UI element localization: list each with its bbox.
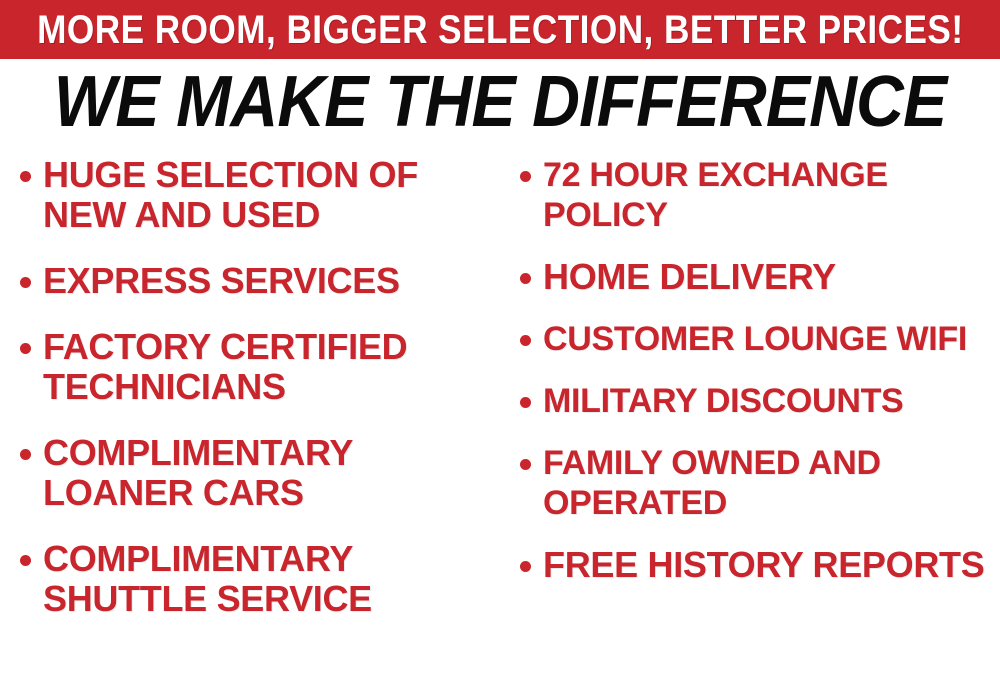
list-item-label: FACTORY CERTIFIED TECHNICIANS [43,327,496,407]
list-item: EXPRESS SERVICES [20,261,496,301]
bullet-dot-icon [520,397,531,408]
promo-banner: MORE ROOM, BIGGER SELECTION, BETTER PRIC… [0,0,1000,59]
list-item-label: EXPRESS SERVICES [43,261,400,301]
list-item: COMPLIMENTARY SHUTTLE SERVICE [20,539,496,619]
bullet-dot-icon [20,171,31,182]
bullet-dot-icon [20,277,31,288]
bullet-dot-icon [520,459,531,470]
bullet-dot-icon [520,335,531,346]
benefits-column-right: 72 HOUR EXCHANGE POLICY HOME DELIVERY CU… [500,155,1000,607]
list-item-label: FAMILY OWNED AND OPERATED [543,443,998,523]
list-item-label: 72 HOUR EXCHANGE POLICY [543,155,998,235]
list-item: FACTORY CERTIFIED TECHNICIANS [20,327,496,407]
headline-text: WE MAKE THE DIFFERENCE [54,66,946,138]
list-item-label: MILITARY DISCOUNTS [543,381,903,421]
list-item-label: CUSTOMER LOUNGE WIFI [543,319,967,359]
list-item: FREE HISTORY REPORTS [520,545,998,585]
headline: WE MAKE THE DIFFERENCE [0,66,1000,138]
list-item: FAMILY OWNED AND OPERATED [520,443,998,523]
list-item-label: COMPLIMENTARY SHUTTLE SERVICE [43,539,496,619]
list-item: HUGE SELECTION OF NEW AND USED [20,155,496,235]
promo-banner-text: MORE ROOM, BIGGER SELECTION, BETTER PRIC… [37,10,963,50]
list-item: MILITARY DISCOUNTS [520,381,998,421]
bullet-dot-icon [520,171,531,182]
bullet-dot-icon [520,561,531,572]
bullet-dot-icon [20,449,31,460]
list-item: COMPLIMENTARY LOANER CARS [20,433,496,513]
bullet-dot-icon [20,555,31,566]
list-item: 72 HOUR EXCHANGE POLICY [520,155,998,235]
list-item: CUSTOMER LOUNGE WIFI [520,319,998,359]
list-item-label: COMPLIMENTARY LOANER CARS [43,433,496,513]
benefits-columns: HUGE SELECTION OF NEW AND USED EXPRESS S… [0,155,1000,694]
list-item-label: FREE HISTORY REPORTS [543,545,984,585]
bullet-dot-icon [520,273,531,284]
list-item-label: HUGE SELECTION OF NEW AND USED [43,155,496,235]
list-item-label: HOME DELIVERY [543,257,836,297]
list-item: HOME DELIVERY [520,257,998,297]
benefits-column-left: HUGE SELECTION OF NEW AND USED EXPRESS S… [0,155,500,645]
bullet-dot-icon [20,343,31,354]
